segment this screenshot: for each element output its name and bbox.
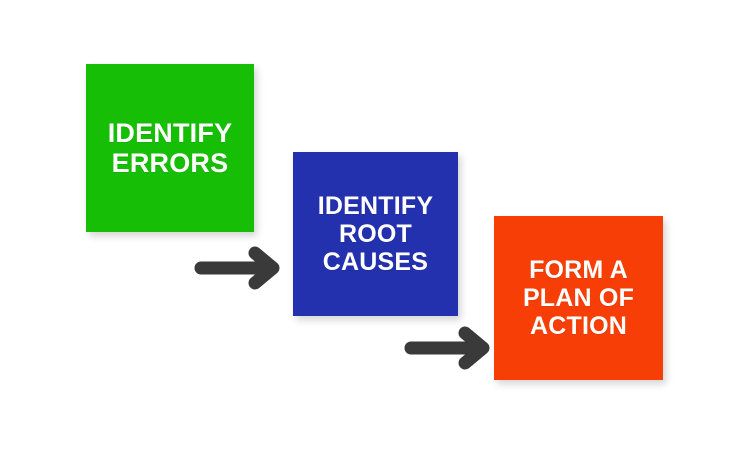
process-step-label: IDENTIFY ERRORS: [108, 118, 233, 178]
process-step-identify-root-causes[interactable]: IDENTIFY ROOT CAUSES: [293, 152, 458, 316]
process-step-identify-errors[interactable]: IDENTIFY ERRORS: [86, 64, 254, 232]
process-step-form-plan-of-action[interactable]: FORM A PLAN OF ACTION: [494, 216, 663, 380]
diagram-canvas: IDENTIFY ERRORS IDENTIFY ROOT CAUSES FOR…: [0, 0, 750, 450]
right-arrow-icon: [404, 329, 496, 367]
process-step-label: IDENTIFY ROOT CAUSES: [318, 192, 434, 276]
process-step-label: FORM A PLAN OF ACTION: [523, 256, 634, 340]
right-arrow-icon: [194, 249, 286, 287]
